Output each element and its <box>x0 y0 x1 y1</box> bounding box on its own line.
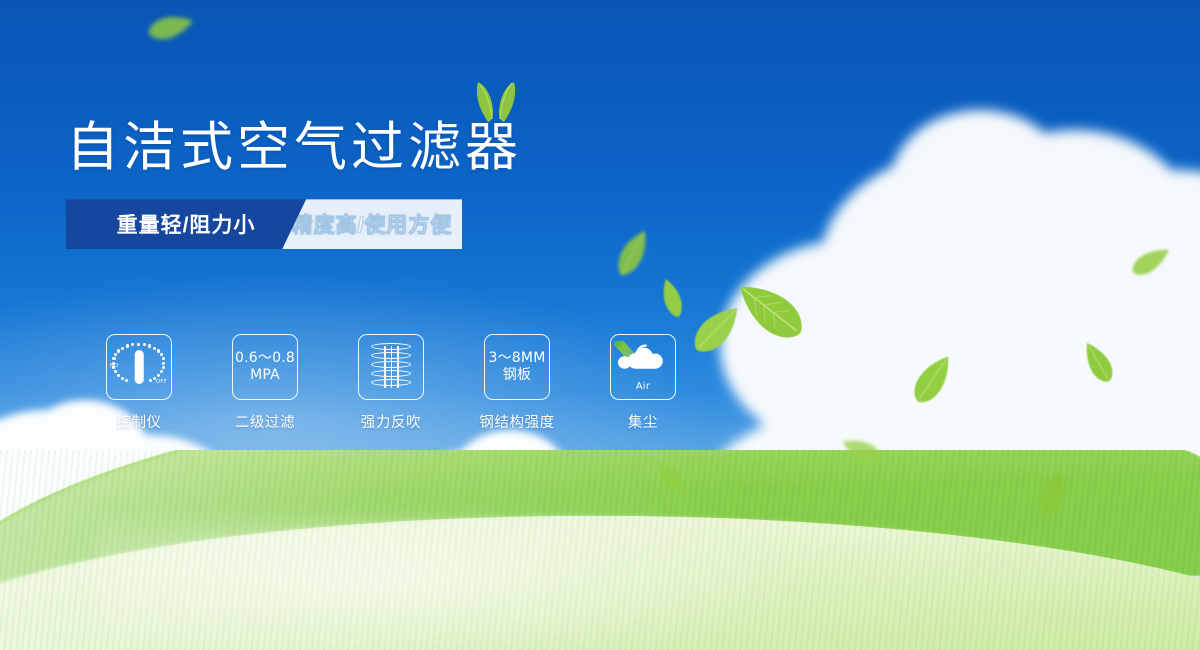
steel-plate-icon: 3～8MM 钢板 <box>484 334 550 400</box>
feature-item-control[interactable]: NO OFF 控制仪 <box>76 334 202 432</box>
gauge-needle <box>135 350 144 384</box>
coil-filter-icon <box>358 334 424 400</box>
cloud-shape-icon: Air <box>614 341 672 393</box>
steel-thickness: 3～8MM <box>489 350 546 367</box>
gauge-label-off: OFF <box>156 379 167 385</box>
feature-list: NO OFF 控制仪 0.6～0.8 MPA 二级过滤 <box>76 334 706 432</box>
grass-light-bloom <box>96 520 816 650</box>
grass-field <box>0 450 1200 650</box>
sprout-leaves-icon <box>464 72 526 129</box>
page-title: 自洁式空气过滤器 <box>66 118 706 177</box>
feature-label: 强力反吹 <box>361 411 421 432</box>
feature-item-backblow[interactable]: 强力反吹 <box>328 334 454 432</box>
feature-label: 二级过滤 <box>235 411 295 432</box>
gauge-dial: NO OFF <box>111 341 167 393</box>
feature-label: 集尘 <box>628 411 658 432</box>
title-row: 自洁式空气过滤器 <box>66 118 706 177</box>
pressure-value: 0.6～0.8 <box>235 350 295 367</box>
feature-item-steel[interactable]: 3～8MM 钢板 钢结构强度 <box>454 334 580 432</box>
pressure-unit: MPA <box>250 367 280 384</box>
feature-item-pressure[interactable]: 0.6～0.8 MPA 二级过滤 <box>202 334 328 432</box>
tagline-left-text: 重量轻/阻力小 <box>117 209 256 239</box>
feature-label: 钢结构强度 <box>479 411 555 432</box>
coil-shape <box>371 343 411 391</box>
gauge-icon: NO OFF <box>106 334 172 400</box>
air-cloud-icon: Air <box>610 334 676 400</box>
product-banner: 自洁式空气过滤器 重量轻/阻力小 精度高/使用方便 <box>0 0 1200 650</box>
feature-item-dust[interactable]: Air 集尘 <box>580 334 706 432</box>
tagline-bar: 重量轻/阻力小 精度高/使用方便 <box>66 199 462 249</box>
air-label: Air <box>614 381 672 392</box>
feature-label: 控制仪 <box>116 411 161 432</box>
tagline-right: 精度高/使用方便 <box>282 199 462 249</box>
tagline-left: 重量轻/阻力小 <box>66 199 306 249</box>
steel-material: 钢板 <box>503 367 531 384</box>
tagline-right-text: 精度高/使用方便 <box>292 209 453 239</box>
banner-content: 自洁式空气过滤器 重量轻/阻力小 精度高/使用方便 <box>66 118 706 249</box>
gauge-label-no: NO <box>110 363 119 369</box>
pressure-icon: 0.6～0.8 MPA <box>232 334 298 400</box>
